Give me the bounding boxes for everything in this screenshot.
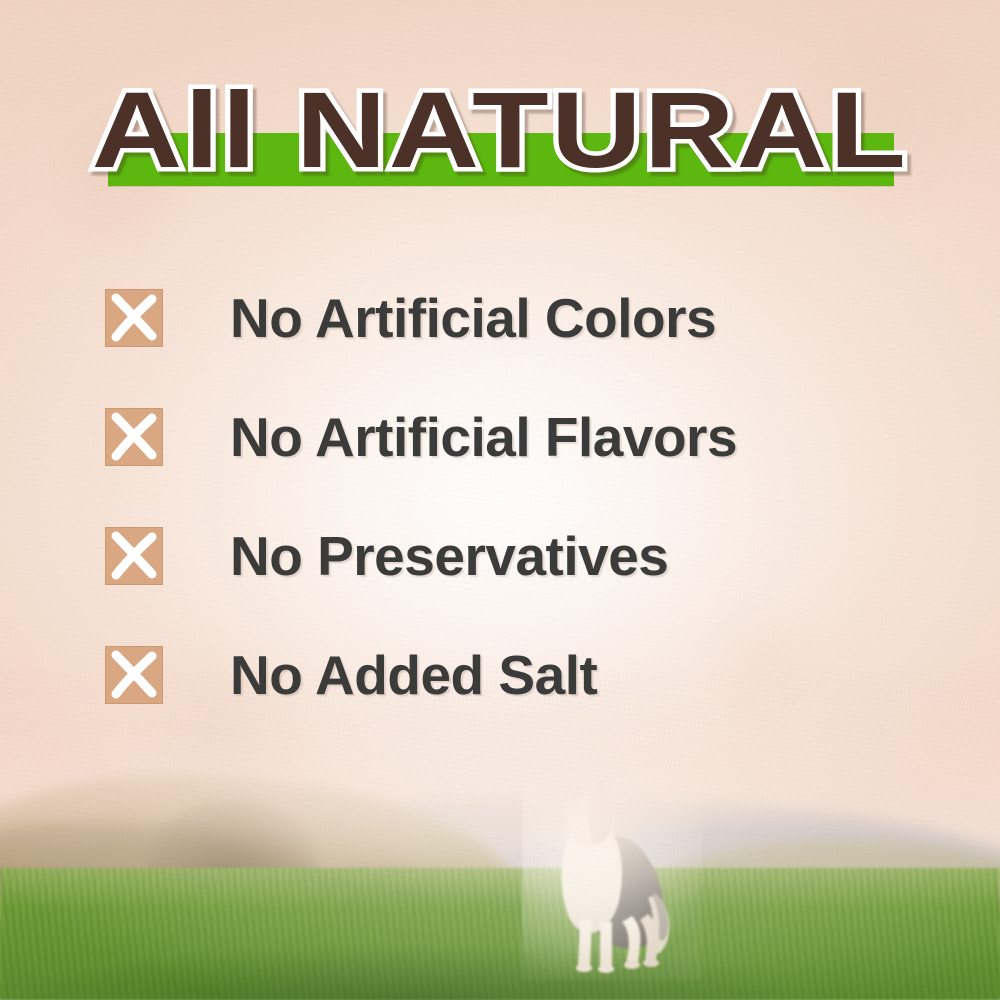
x-mark-icon [105, 527, 163, 585]
border-collie-dog [522, 770, 702, 980]
feature-label: No Added Salt [230, 646, 925, 704]
x-mark-icon [105, 408, 163, 466]
feature-label: No Artificial Colors [230, 289, 925, 347]
all-natural-feature-poster: All NATURAL No Artificial Colors No Arti… [0, 0, 1000, 1000]
feature-item-no-artificial-colors: No Artificial Colors [105, 258, 925, 377]
x-mark-icon [105, 646, 163, 704]
feature-list: No Artificial Colors No Artificial Flavo… [105, 258, 925, 734]
feature-item-no-artificial-flavors: No Artificial Flavors [105, 377, 925, 496]
feature-label: No Preservatives [230, 527, 925, 585]
foreground-grass-shadow [0, 904, 1000, 1000]
x-mark-icon [105, 289, 163, 347]
headline: All NATURAL [0, 74, 1000, 204]
feature-label: No Artificial Flavors [230, 408, 925, 466]
headline-title: All NATURAL [0, 74, 1000, 186]
feature-item-no-added-salt: No Added Salt [105, 615, 925, 734]
feature-item-no-preservatives: No Preservatives [105, 496, 925, 615]
